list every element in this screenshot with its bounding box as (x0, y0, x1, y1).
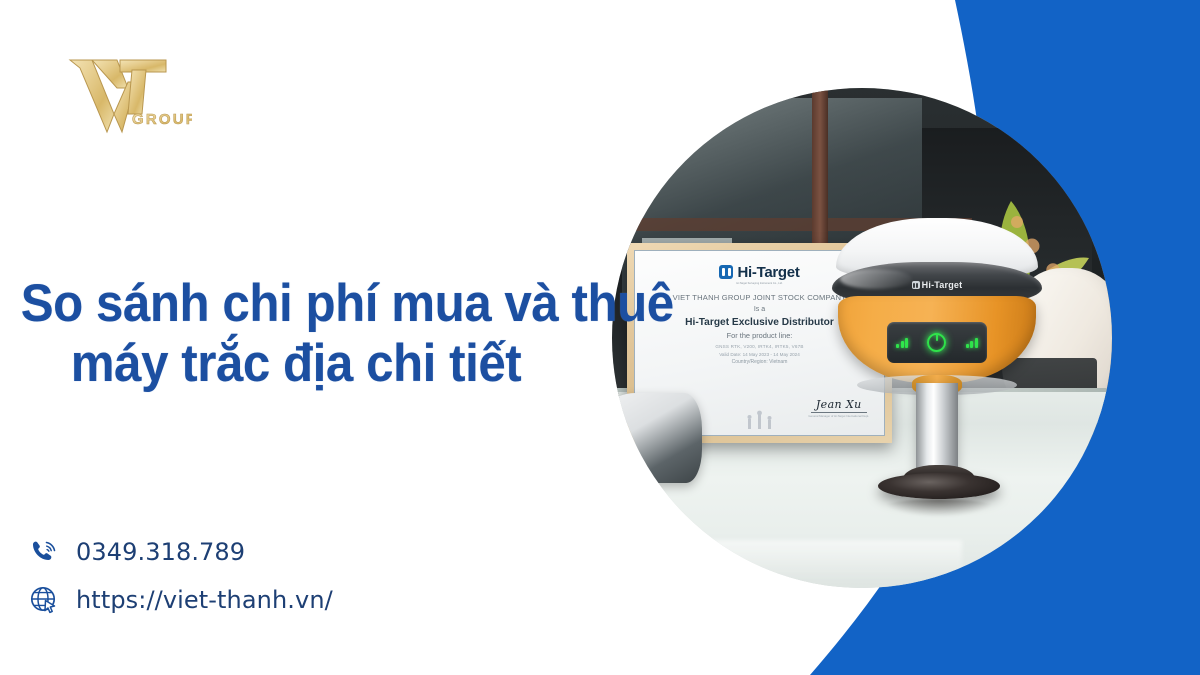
gnss-brand-text: Hi-Target (922, 280, 963, 290)
hi-target-logo-icon (719, 265, 733, 279)
certificate-brand-tagline: Hi-Target Surveying Instrument Co., Ltd. (736, 282, 782, 285)
gnss-receiver: Hi-Target (832, 218, 1042, 508)
contact-row-phone[interactable]: 0349.318.789 (22, 528, 333, 576)
promo-banner: GROUP So sánh chi phí mua và thuê máy tr… (0, 0, 1200, 675)
page-title: So sánh chi phí mua và thuê máy trắc địa… (21, 274, 572, 395)
contact-block: 0349.318.789 https://viet-thanh.vn/ (22, 528, 333, 624)
gnss-base-reflection (882, 499, 995, 516)
certificate-brand: Hi-Target (737, 264, 799, 281)
gnss-power-button-icon[interactable] (927, 333, 946, 352)
certificate-seal (740, 405, 780, 431)
certificate-isa: Is a (754, 306, 765, 313)
gnss-led-panel (887, 322, 988, 363)
certificate-brand-row: Hi-Target (719, 264, 799, 281)
headline-line-1: So sánh chi phí mua và thuê (21, 274, 572, 334)
vt-group-logo: GROUP (62, 48, 192, 143)
contact-row-website[interactable]: https://viet-thanh.vn/ (22, 576, 333, 624)
certificate-company: VIET THANH GROUP JOINT STOCK COMPANY (673, 293, 847, 302)
photo-table-reflection (652, 540, 962, 584)
headline-line-2: máy trắc địa chi tiết (21, 334, 572, 394)
certificate-country: Country/Region: Vietnam (732, 359, 788, 365)
certificate-title: Hi-Target Exclusive Distributor (685, 317, 834, 328)
photo-grey-device (612, 393, 702, 483)
hi-target-gnss-receiver-photo: Hi-Target Hi-Target Surveying Instrument… (612, 88, 1112, 588)
certificate-valid-date: Valid Date: 14 May 2023 - 14 May 2024 (719, 352, 800, 357)
globe-cursor-icon (22, 580, 66, 620)
certificate-for-line: For the product line: (727, 331, 793, 340)
hi-target-logo-icon (912, 281, 920, 289)
certificate-products: GNSS RTK, V200, IRTK4, IRTK5, V67B (715, 344, 803, 349)
svg-text:GROUP: GROUP (132, 111, 192, 128)
gnss-brand-label: Hi-Target (832, 280, 1042, 290)
phone-call-icon (22, 532, 66, 572)
phone-number: 0349.318.789 (76, 538, 245, 566)
website-url: https://viet-thanh.vn/ (76, 586, 333, 614)
gnss-base-plate (878, 473, 1000, 499)
gnss-satellite-led-icon (896, 338, 908, 348)
gnss-signal-led-icon (966, 338, 978, 348)
